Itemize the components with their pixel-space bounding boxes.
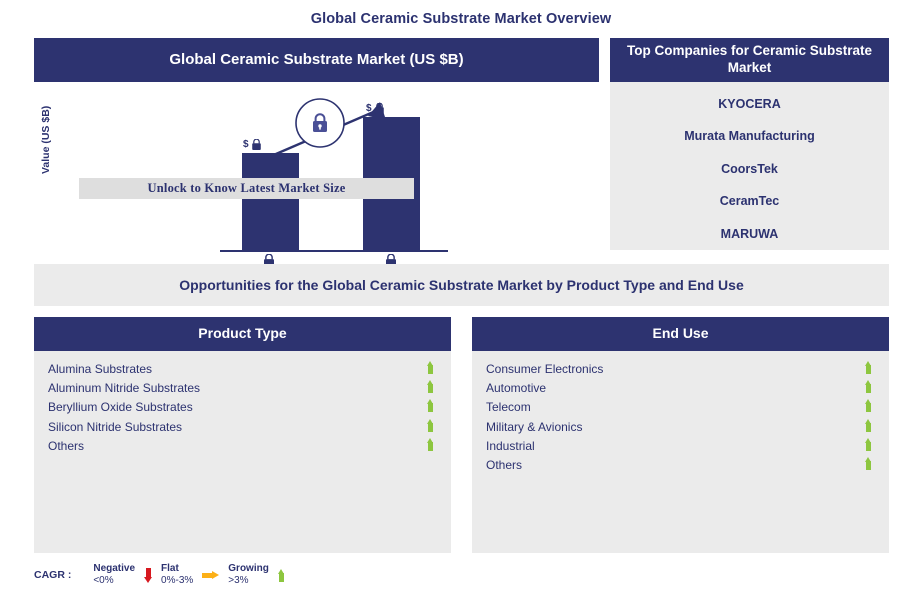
arrow-up-icon: [423, 399, 437, 415]
arrow-up-icon: [423, 361, 437, 377]
cagr-item-name: Negative: [93, 563, 135, 575]
arrow-down-icon: [144, 568, 152, 583]
list-item-label: Military & Avionics: [486, 420, 861, 434]
arrow-up-icon: [278, 569, 285, 582]
list-item: MARUWA: [610, 218, 889, 250]
product-type-header: Product Type: [34, 317, 451, 351]
list-item-label: Industrial: [486, 439, 861, 453]
list-item: Silicon Nitride Substrates: [48, 417, 437, 436]
cagr-legend-item-flat: Flat 0%-3%: [161, 563, 228, 587]
list-item-label: Silicon Nitride Substrates: [48, 420, 423, 434]
cagr-item-name: Flat: [161, 563, 193, 575]
list-item: Military & Avionics: [486, 417, 875, 436]
x-axis-line: [220, 250, 448, 252]
market-chart-body: Value (US $B): [34, 82, 599, 294]
list-item: CoorsTek: [610, 153, 889, 185]
cagr-item-range: 0%-3%: [161, 575, 193, 587]
list-item: Others: [48, 436, 437, 455]
cagr-item-name: Growing: [228, 563, 269, 575]
lock-icon: [375, 103, 384, 114]
page-title: Global Ceramic Substrate Market Overview: [0, 11, 922, 27]
list-item: Beryllium Oxide Substrates: [48, 398, 437, 417]
market-chart-header: Global Ceramic Substrate Market (US $B): [34, 38, 599, 82]
list-item: Alumina Substrates: [48, 359, 437, 378]
top-companies-header: Top Companies for Ceramic Substrate Mark…: [610, 38, 889, 82]
bar-first-year: [242, 153, 299, 250]
list-item: Murata Manufacturing: [610, 120, 889, 152]
cagr-item-range: <0%: [93, 575, 135, 587]
list-item: CeramTec: [610, 185, 889, 217]
list-item-label: Aluminum Nitride Substrates: [48, 381, 423, 395]
top-companies-list: KYOCERA Murata Manufacturing CoorsTek Ce…: [610, 82, 889, 250]
cagr-item-range: >3%: [228, 575, 269, 587]
arrow-up-icon: [423, 380, 437, 396]
bar-value-label-last: $: [366, 103, 384, 114]
opportunities-banner: Opportunities for the Global Ceramic Sub…: [34, 264, 889, 306]
list-item-label: Others: [48, 439, 423, 453]
infographic-page: Global Ceramic Substrate Market Overview…: [0, 0, 922, 597]
cagr-legend-item-growing: Growing >3%: [228, 563, 294, 587]
arrow-up-icon: [423, 419, 437, 435]
arrow-up-icon: [861, 361, 875, 377]
end-use-list: Consumer Electronics Automotive Telecom …: [472, 351, 889, 553]
cagr-legend-title: CAGR :: [34, 569, 71, 581]
bar-value-label-first: $: [243, 139, 261, 150]
arrow-up-icon: [861, 438, 875, 454]
list-item: Aluminum Nitride Substrates: [48, 378, 437, 397]
list-item: KYOCERA: [610, 88, 889, 120]
cagr-legend: CAGR : Negative <0% Flat 0%-3% Growing >…: [34, 563, 294, 587]
list-item: Automotive: [486, 378, 875, 397]
unlock-market-size-banner[interactable]: Unlock to Know Latest Market Size: [79, 178, 414, 199]
product-type-panel: Product Type Alumina Substrates Aluminum…: [34, 317, 451, 553]
arrow-up-icon: [861, 380, 875, 396]
arrow-right-icon: [202, 571, 219, 580]
arrow-up-icon: [423, 438, 437, 454]
list-item-label: Alumina Substrates: [48, 362, 423, 376]
list-item: Consumer Electronics: [486, 359, 875, 378]
arrow-up-icon: [861, 419, 875, 435]
top-companies-panel: Top Companies for Ceramic Substrate Mark…: [610, 38, 889, 250]
market-chart-panel: Global Ceramic Substrate Market (US $B) …: [34, 38, 599, 294]
product-type-list: Alumina Substrates Aluminum Nitride Subs…: [34, 351, 451, 553]
list-item-label: Telecom: [486, 400, 861, 414]
arrow-up-icon: [861, 457, 875, 473]
list-item: Industrial: [486, 436, 875, 455]
list-item: Telecom: [486, 398, 875, 417]
end-use-header: End Use: [472, 317, 889, 351]
list-item-label: Consumer Electronics: [486, 362, 861, 376]
arrow-up-icon: [861, 399, 875, 415]
end-use-panel: End Use Consumer Electronics Automotive …: [472, 317, 889, 553]
list-item-label: Others: [486, 458, 861, 472]
bar-value-text: $: [243, 139, 249, 150]
bar-value-text: $: [366, 103, 372, 114]
list-item-label: Automotive: [486, 381, 861, 395]
lock-icon: [252, 139, 261, 150]
list-item-label: Beryllium Oxide Substrates: [48, 400, 423, 414]
cagr-legend-item-negative: Negative <0%: [93, 563, 161, 587]
y-axis-label: Value (US $B): [40, 106, 52, 174]
list-item: Others: [486, 455, 875, 474]
